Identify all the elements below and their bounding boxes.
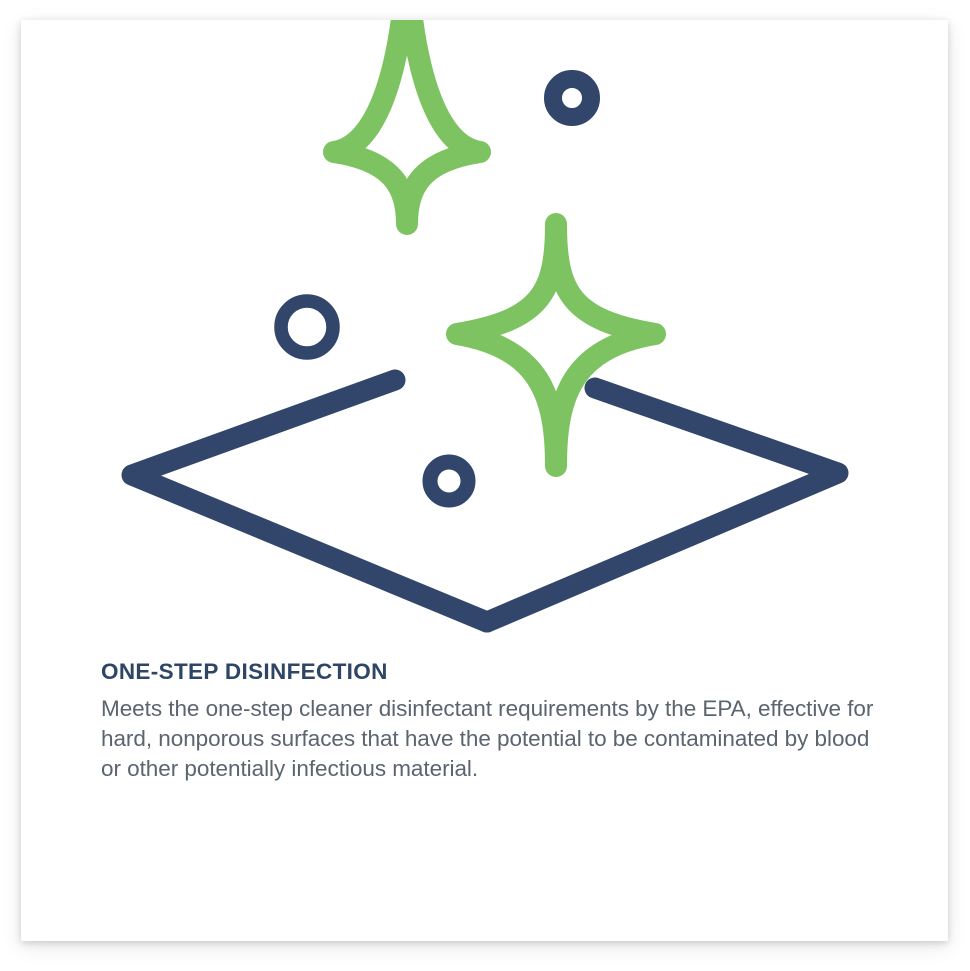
text-block: ONE-STEP DISINFECTION Meets the one-step… bbox=[101, 658, 881, 784]
sparkle-large-icon bbox=[457, 224, 655, 466]
page-root: ONE-STEP DISINFECTION Meets the one-step… bbox=[0, 0, 970, 971]
dot-top-right-icon bbox=[553, 79, 591, 117]
surface-diamond bbox=[132, 380, 838, 622]
one-step-disinfection-illustration bbox=[21, 20, 948, 660]
feature-card: ONE-STEP DISINFECTION Meets the one-step… bbox=[21, 20, 948, 941]
body-description: Meets the one-step cleaner disinfectant … bbox=[101, 694, 881, 784]
page-title: ONE-STEP DISINFECTION bbox=[101, 658, 881, 685]
dot-left-icon bbox=[281, 301, 333, 353]
dot-center-icon bbox=[430, 462, 468, 500]
sparkle-small-icon bbox=[334, 20, 480, 288]
